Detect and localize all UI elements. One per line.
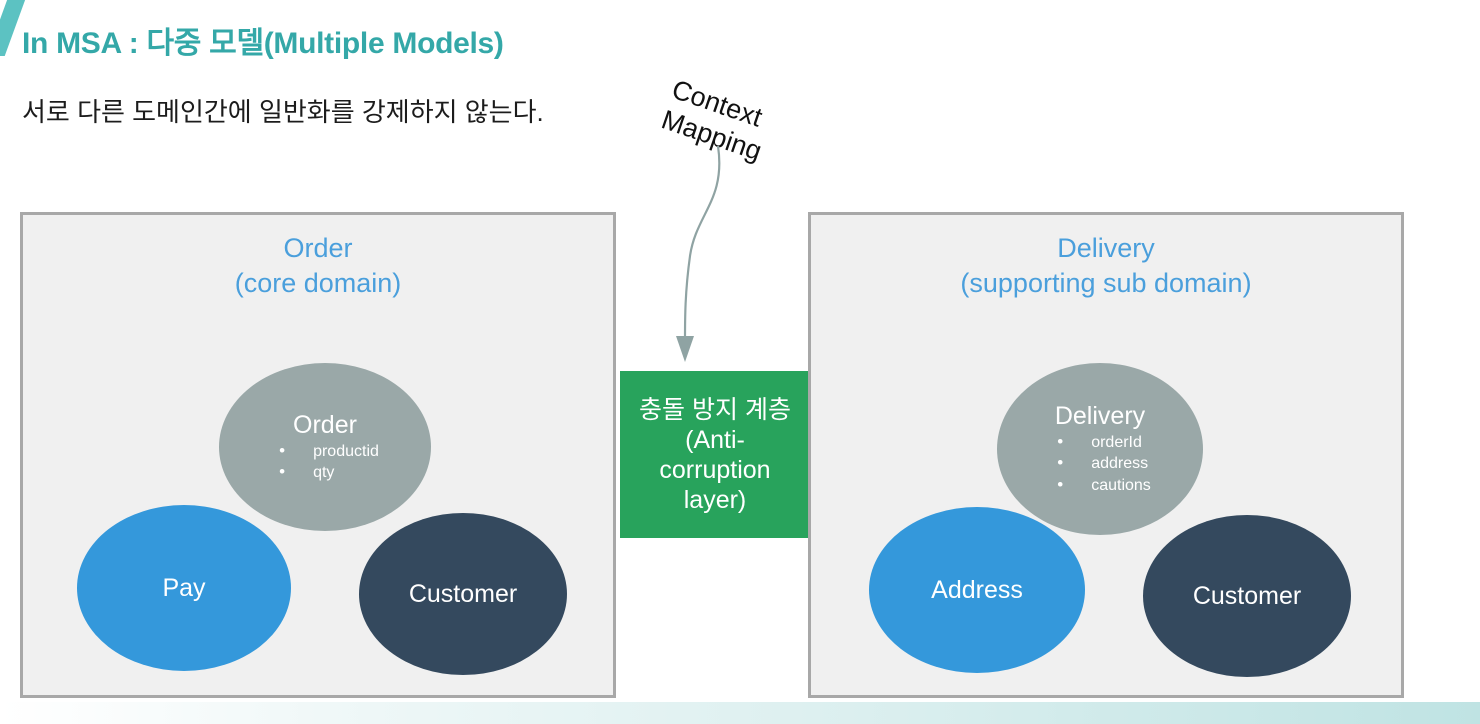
- entity-attribute: productid: [271, 441, 379, 463]
- ellipse-label-address: Address: [931, 576, 1023, 605]
- domain-heading-delivery-line2: (supporting sub domain): [811, 266, 1401, 301]
- acl-line-1: 충돌 방지 계층: [639, 395, 791, 425]
- bottom-accent-bar: [0, 702, 1480, 724]
- ellipse-label-customer-order: Customer: [409, 580, 517, 609]
- domain-box-order: Order (core domain) Order productid qty …: [20, 212, 616, 698]
- ellipse-address[interactable]: Address: [869, 507, 1085, 673]
- entity-attribute-list-order: productid qty: [271, 441, 379, 484]
- domain-heading-order-line2: (core domain): [23, 266, 613, 301]
- slide-canvas: In MSA : 다중 모델(Multiple Models) 서로 다른 도메…: [0, 0, 1480, 724]
- entity-attribute: qty: [271, 462, 379, 484]
- page-subtitle: 서로 다른 도메인간에 일반화를 강제하지 않는다.: [22, 92, 544, 129]
- entity-ellipse-delivery[interactable]: Delivery orderId address cautions: [997, 363, 1203, 535]
- domain-heading-delivery-line1: Delivery: [1057, 233, 1155, 263]
- acl-line-3: corruption: [639, 455, 791, 485]
- acl-line-2: (Anti-: [639, 425, 791, 455]
- ellipse-customer-order[interactable]: Customer: [359, 513, 567, 675]
- entity-attribute: cautions: [1049, 475, 1151, 497]
- entity-attribute: address: [1049, 453, 1151, 475]
- ellipse-label-customer-delivery: Customer: [1193, 582, 1301, 611]
- domain-heading-order: Order (core domain): [23, 231, 613, 301]
- entity-attribute: orderId: [1049, 432, 1151, 454]
- curved-arrow-icon: [660, 140, 750, 370]
- anti-corruption-layer-text: 충돌 방지 계층 (Anti- corruption layer): [639, 395, 791, 515]
- ellipse-customer-delivery[interactable]: Customer: [1143, 515, 1351, 677]
- entity-attribute-list-delivery: orderId address cautions: [1049, 432, 1151, 497]
- ellipse-label-pay: Pay: [162, 574, 205, 603]
- ellipse-pay[interactable]: Pay: [77, 505, 291, 671]
- anti-corruption-layer-box[interactable]: 충돌 방지 계층 (Anti- corruption layer): [620, 371, 810, 538]
- entity-content-order: Order productid qty: [271, 410, 379, 483]
- entity-title-order: Order: [271, 412, 379, 438]
- entity-content-delivery: Delivery orderId address cautions: [1049, 401, 1151, 496]
- domain-heading-order-line1: Order: [283, 233, 352, 263]
- entity-ellipse-order[interactable]: Order productid qty: [219, 363, 431, 531]
- domain-box-delivery: Delivery (supporting sub domain) Deliver…: [808, 212, 1404, 698]
- page-title: In MSA : 다중 모델(Multiple Models): [22, 18, 504, 62]
- entity-title-delivery: Delivery: [1049, 403, 1151, 429]
- acl-line-4: layer): [639, 485, 791, 515]
- domain-heading-delivery: Delivery (supporting sub domain): [811, 231, 1401, 301]
